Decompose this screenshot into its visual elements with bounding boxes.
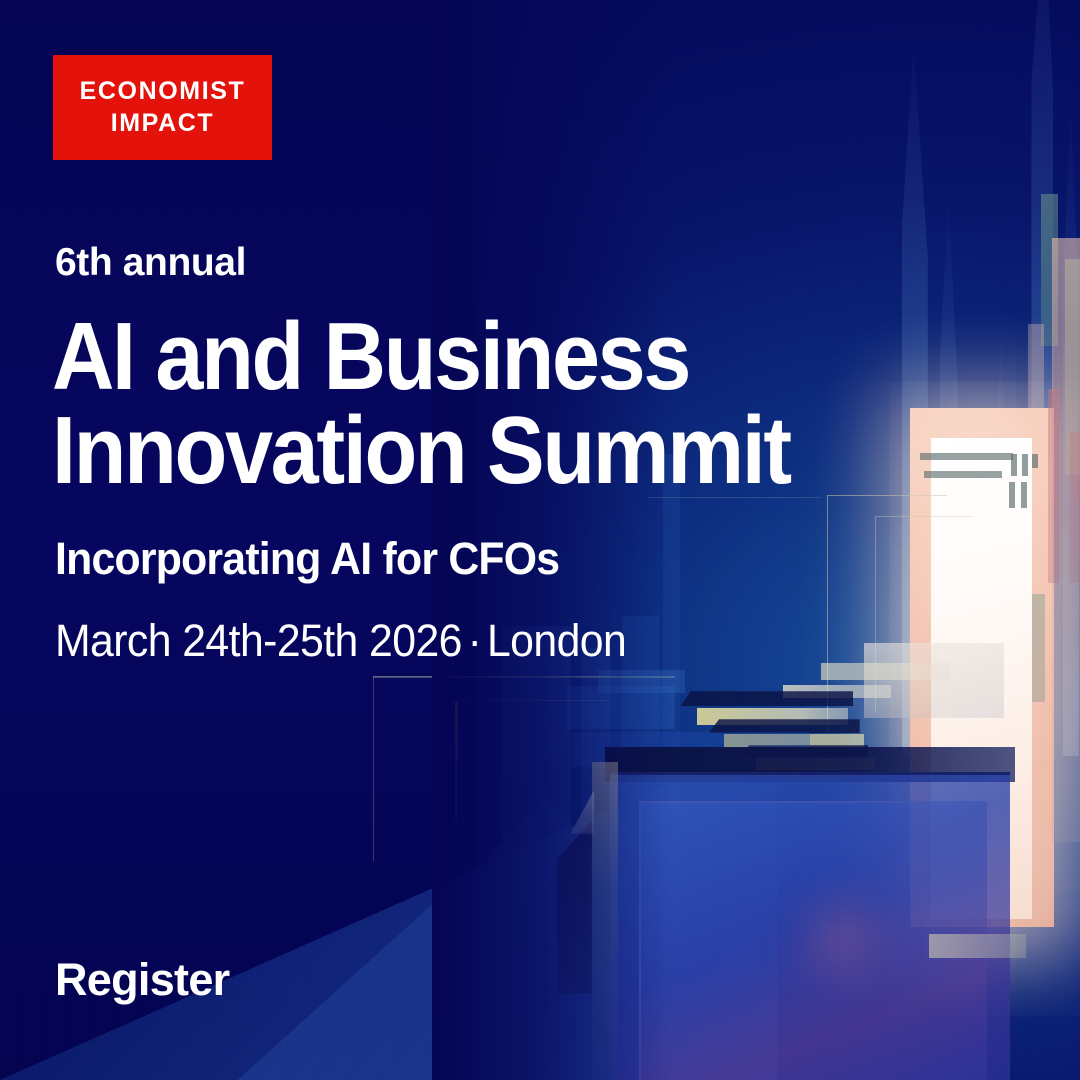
- event-promo-poster: ECONOMIST IMPACT 6th annual AI and Busin…: [0, 0, 1080, 1080]
- event-dateline: March 24th-25th 2026·London: [55, 618, 626, 663]
- dateline-separator: ·: [462, 615, 487, 666]
- logo-line-impact: IMPACT: [111, 111, 215, 136]
- event-title-line2: Innovation Summit: [52, 397, 790, 504]
- event-title-line1: AI and Business: [52, 303, 689, 410]
- register-link[interactable]: Register: [55, 957, 229, 1002]
- economist-impact-logo[interactable]: ECONOMIST IMPACT: [53, 55, 272, 160]
- event-date: March 24th-25th 2026: [55, 615, 462, 666]
- event-subtitle: Incorporating AI for CFOs: [55, 536, 559, 581]
- logo-line-economist: ECONOMIST: [80, 79, 246, 104]
- event-kicker: 6th annual: [55, 243, 246, 282]
- event-location: London: [487, 615, 626, 666]
- event-title: AI and Business Innovation Summit: [52, 310, 790, 498]
- poster-content: ECONOMIST IMPACT 6th annual AI and Busin…: [0, 0, 1080, 1080]
